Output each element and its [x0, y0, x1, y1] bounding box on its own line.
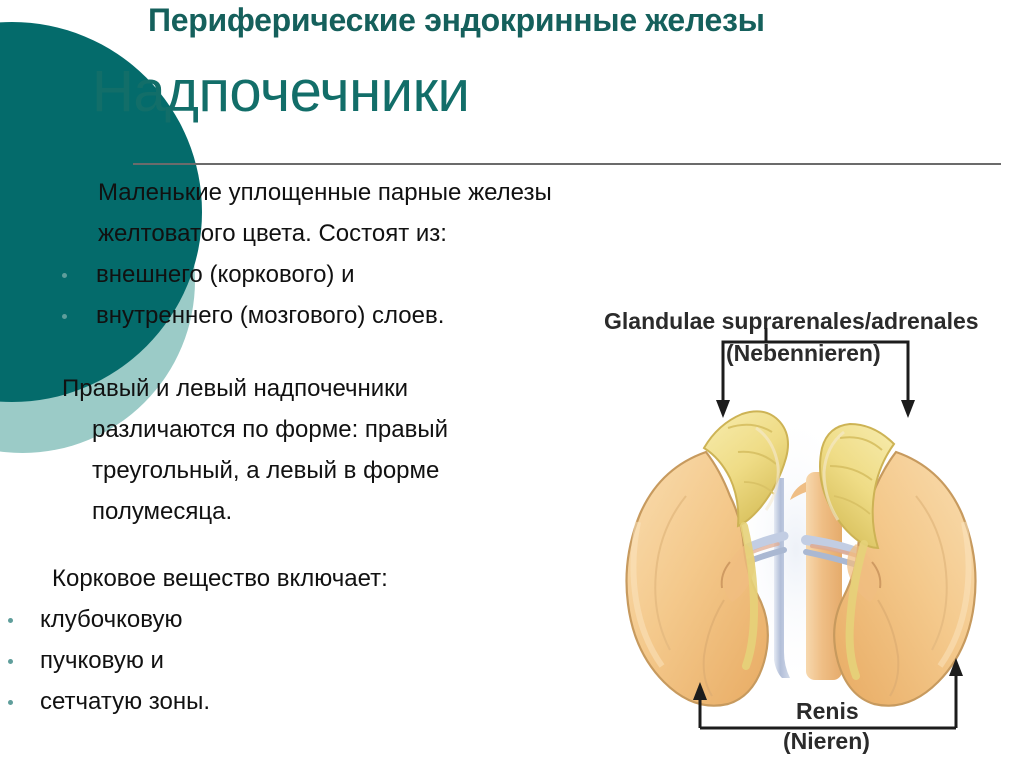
text-line-label: внутреннего (мозгового) слоев. — [96, 295, 444, 336]
anatomy-svg — [578, 300, 1024, 767]
bullet-dot-icon — [8, 659, 13, 664]
text-line-label: пучковую и — [40, 640, 164, 681]
text-line-label: различаются по форме: правый — [92, 409, 448, 450]
text-line-label: сетчатую зоны. — [40, 681, 210, 722]
text-line-label: клубочковую — [40, 599, 182, 640]
text-line-label: Правый и левый надпочечники — [62, 368, 408, 409]
text-line-label: полумесяца. — [92, 491, 232, 532]
text-line-label: желтоватого цвета. Состоят из: — [98, 213, 447, 254]
bullet-dot-icon — [62, 273, 67, 278]
slide-main-title: Надпочечники — [92, 58, 469, 125]
text-line-label: внешнего (коркового) и — [96, 254, 355, 295]
slide-canvas: Периферические эндокринные железы Надпоч… — [0, 0, 1024, 767]
bullet-dot-icon — [62, 314, 67, 319]
text-line-label: треугольный, а левый в форме — [92, 450, 439, 491]
anatomy-figure-kidneys-adrenals: Glandulae suprarenales/adrenales (Nebenn… — [578, 300, 1024, 767]
slide-header-title: Периферические эндокринные железы — [148, 2, 1008, 39]
bullet-dot-icon — [8, 618, 13, 623]
title-divider-rule — [133, 163, 1001, 165]
bullet-dot-icon — [8, 700, 13, 705]
text-line-label: Корковое вещество включает: — [52, 558, 388, 599]
text-line-label: Маленькие уплощенные парные железы — [98, 172, 552, 213]
